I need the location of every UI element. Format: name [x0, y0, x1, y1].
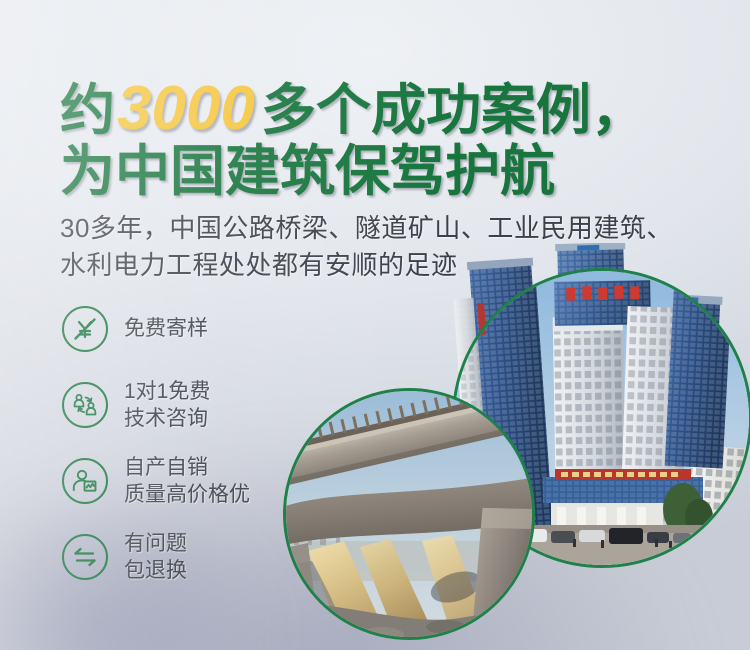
return-exchange-icon: [62, 534, 108, 580]
headline-number: 3000: [115, 74, 261, 143]
headline-suffix: 多个成功案例，: [261, 79, 646, 141]
bridge-viaduct-photo: [283, 388, 535, 640]
feature-label-line: 质量高价格优: [124, 481, 250, 508]
feature-item-return-exchange[interactable]: 有问题 包退换: [62, 528, 322, 586]
feature-label: 自产自销 质量高价格优: [124, 454, 250, 509]
feature-label: 1对1免费 技术咨询: [124, 378, 210, 433]
headline-line-2: 为中国建筑保驾护航: [60, 144, 555, 199]
feature-label: 有问题 包退换: [124, 530, 187, 585]
feature-list: 免费寄样 1对1免费 技术咨询: [62, 300, 322, 604]
subcopy-line-1: 30多年，中国公路桥梁、隧道矿山、工业民用建筑、: [60, 210, 673, 247]
promo-banner: 约3000多个成功案例， 为中国建筑保驾护航 30多年，中国公路桥梁、隧道矿山、…: [0, 0, 750, 650]
headline: 约3000多个成功案例， 为中国建筑保驾护航: [60, 78, 646, 140]
feature-label-line: 有问题: [124, 530, 187, 557]
feature-label-line: 技术咨询: [124, 405, 210, 432]
feature-label-line: 自产自销: [124, 454, 250, 481]
headline-line-1: 约3000多个成功案例，: [60, 78, 646, 140]
headline-prefix: 约: [60, 79, 115, 141]
feature-label-line: 包退换: [124, 557, 187, 584]
self-produce-sell-icon: [62, 458, 108, 504]
one-to-one-consult-icon: [62, 382, 108, 428]
no-fee-yuan-icon: [62, 306, 108, 352]
feature-label: 免费寄样: [124, 315, 208, 342]
feature-item-free-sample[interactable]: 免费寄样: [62, 300, 322, 358]
feature-label-line: 免费寄样: [124, 315, 208, 342]
feature-item-one-to-one-consult[interactable]: 1对1免费 技术咨询: [62, 376, 322, 434]
feature-label-line: 1对1免费: [124, 378, 210, 405]
